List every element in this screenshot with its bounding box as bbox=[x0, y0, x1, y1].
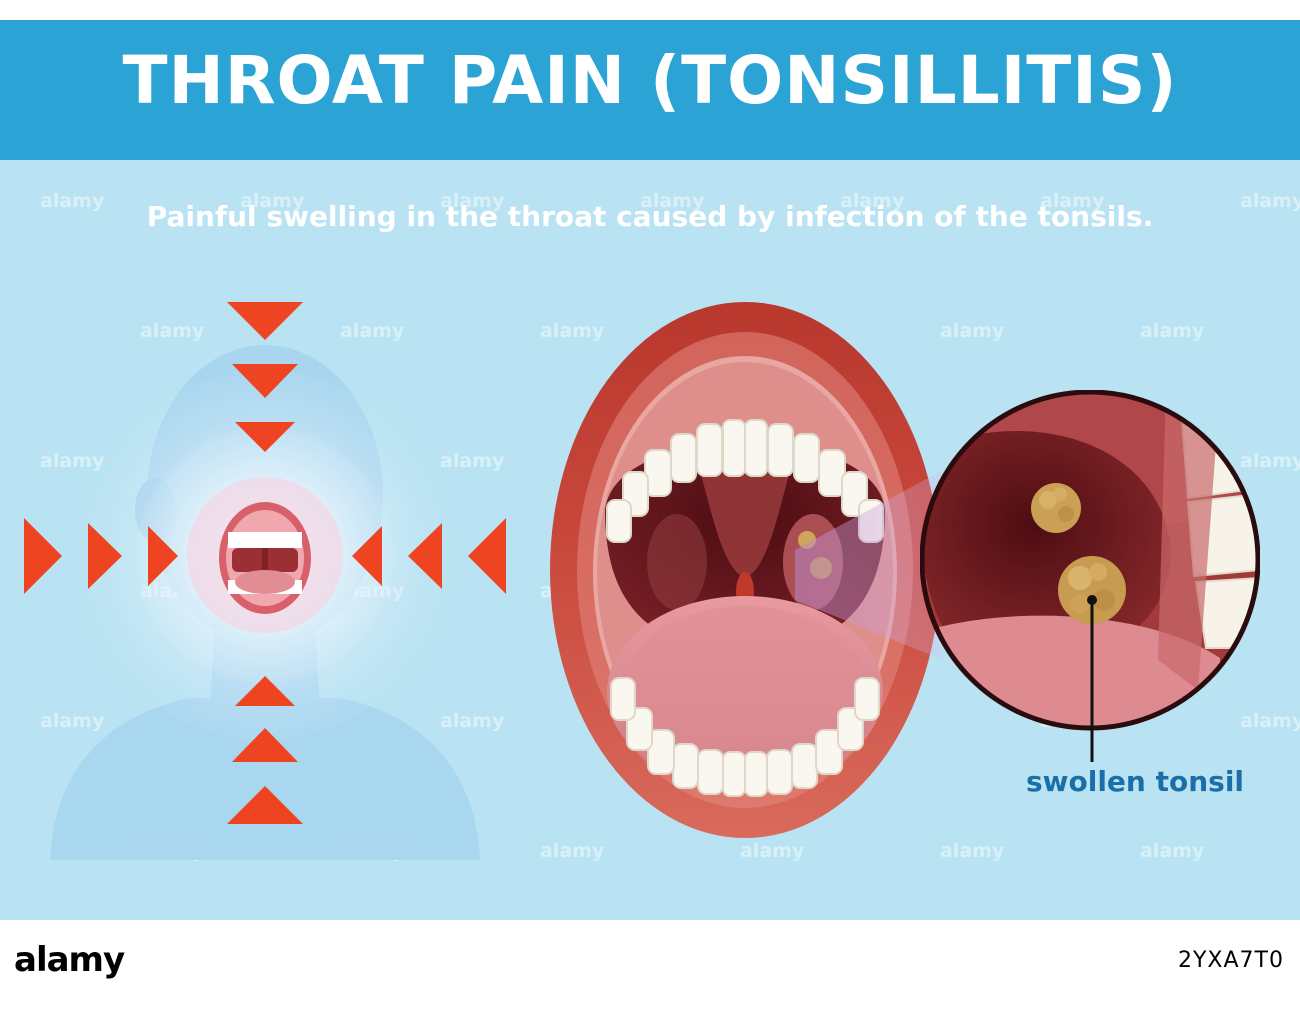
page-title: THROAT PAIN (TONSILLITIS) bbox=[0, 42, 1300, 119]
subtitle-text: Painful swelling in the throat caused by… bbox=[0, 200, 1300, 233]
infographic-card: alamyalamyalamyalamyalamyalamyalamyalamy… bbox=[0, 20, 1300, 920]
watermark-text: alamy bbox=[940, 840, 1004, 862]
watermark-text: alamy bbox=[1140, 840, 1204, 862]
open-mouth-illustration bbox=[545, 300, 945, 840]
watermark-text: alamy bbox=[540, 840, 604, 862]
tonsil-closeup bbox=[920, 390, 1260, 810]
image-id-text: 2YXA7T0 bbox=[1178, 948, 1284, 973]
watermark-text: alamy bbox=[940, 320, 1004, 342]
top-white-strip bbox=[0, 0, 1300, 20]
footer-bar bbox=[0, 920, 1300, 1009]
swollen-tonsil-label: swollen tonsil bbox=[985, 765, 1285, 798]
mouth-icon-small bbox=[219, 502, 311, 614]
head-pain-illustration bbox=[10, 280, 520, 860]
alamy-logo: alamy bbox=[14, 940, 124, 980]
watermark-text: alamy bbox=[1140, 320, 1204, 342]
watermark-text: alamy bbox=[740, 840, 804, 862]
